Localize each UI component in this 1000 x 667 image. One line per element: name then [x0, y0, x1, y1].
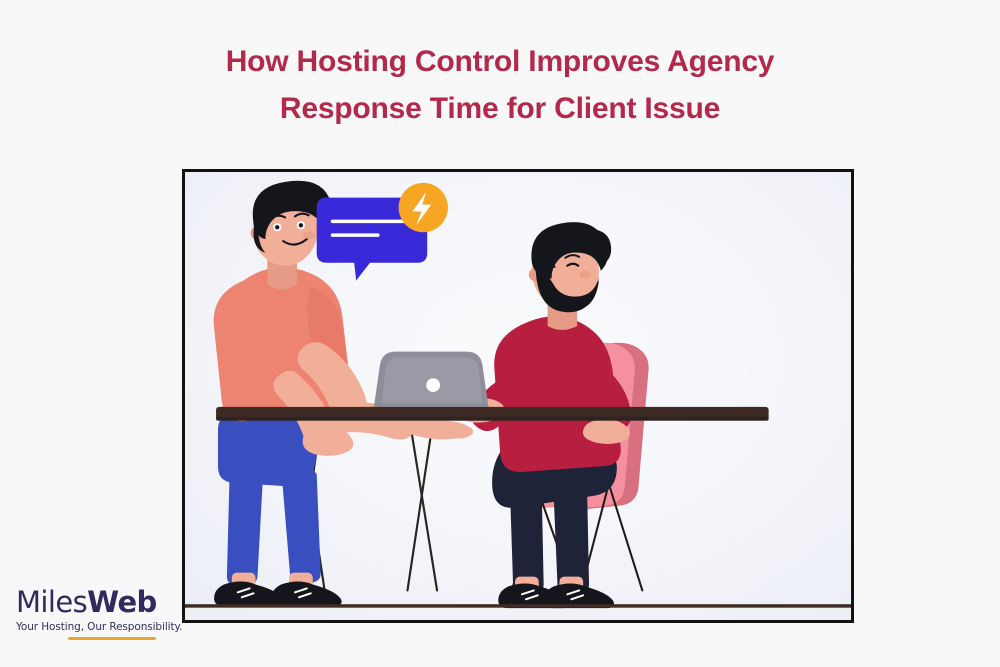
lightning-badge-icon	[399, 183, 448, 232]
page-title: How Hosting Control Improves Agency Resp…	[0, 38, 1000, 132]
logo-underline	[68, 637, 156, 640]
desk-icon	[216, 407, 769, 421]
banner-page: How Hosting Control Improves Agency Resp…	[0, 0, 1000, 667]
laptop-icon	[366, 352, 496, 415]
title-line-2: Response Time for Client Issue	[0, 85, 1000, 132]
illustration-svg	[185, 172, 851, 620]
floor-line	[185, 604, 851, 607]
standing-man-shoes-icon	[214, 582, 342, 607]
illustration-artwork	[185, 172, 851, 620]
logo-tagline: Your Hosting, Our Responsibility.	[16, 621, 176, 633]
logo-wordmark: MilesWeb	[16, 586, 176, 618]
title-line-1: How Hosting Control Improves Agency	[0, 38, 1000, 85]
logo-word-web: Web	[87, 585, 157, 619]
milesweb-logo[interactable]: MilesWeb Your Hosting, Our Responsibilit…	[16, 586, 176, 640]
logo-word-miles: Miles	[16, 585, 87, 619]
illustration-frame	[182, 169, 854, 623]
